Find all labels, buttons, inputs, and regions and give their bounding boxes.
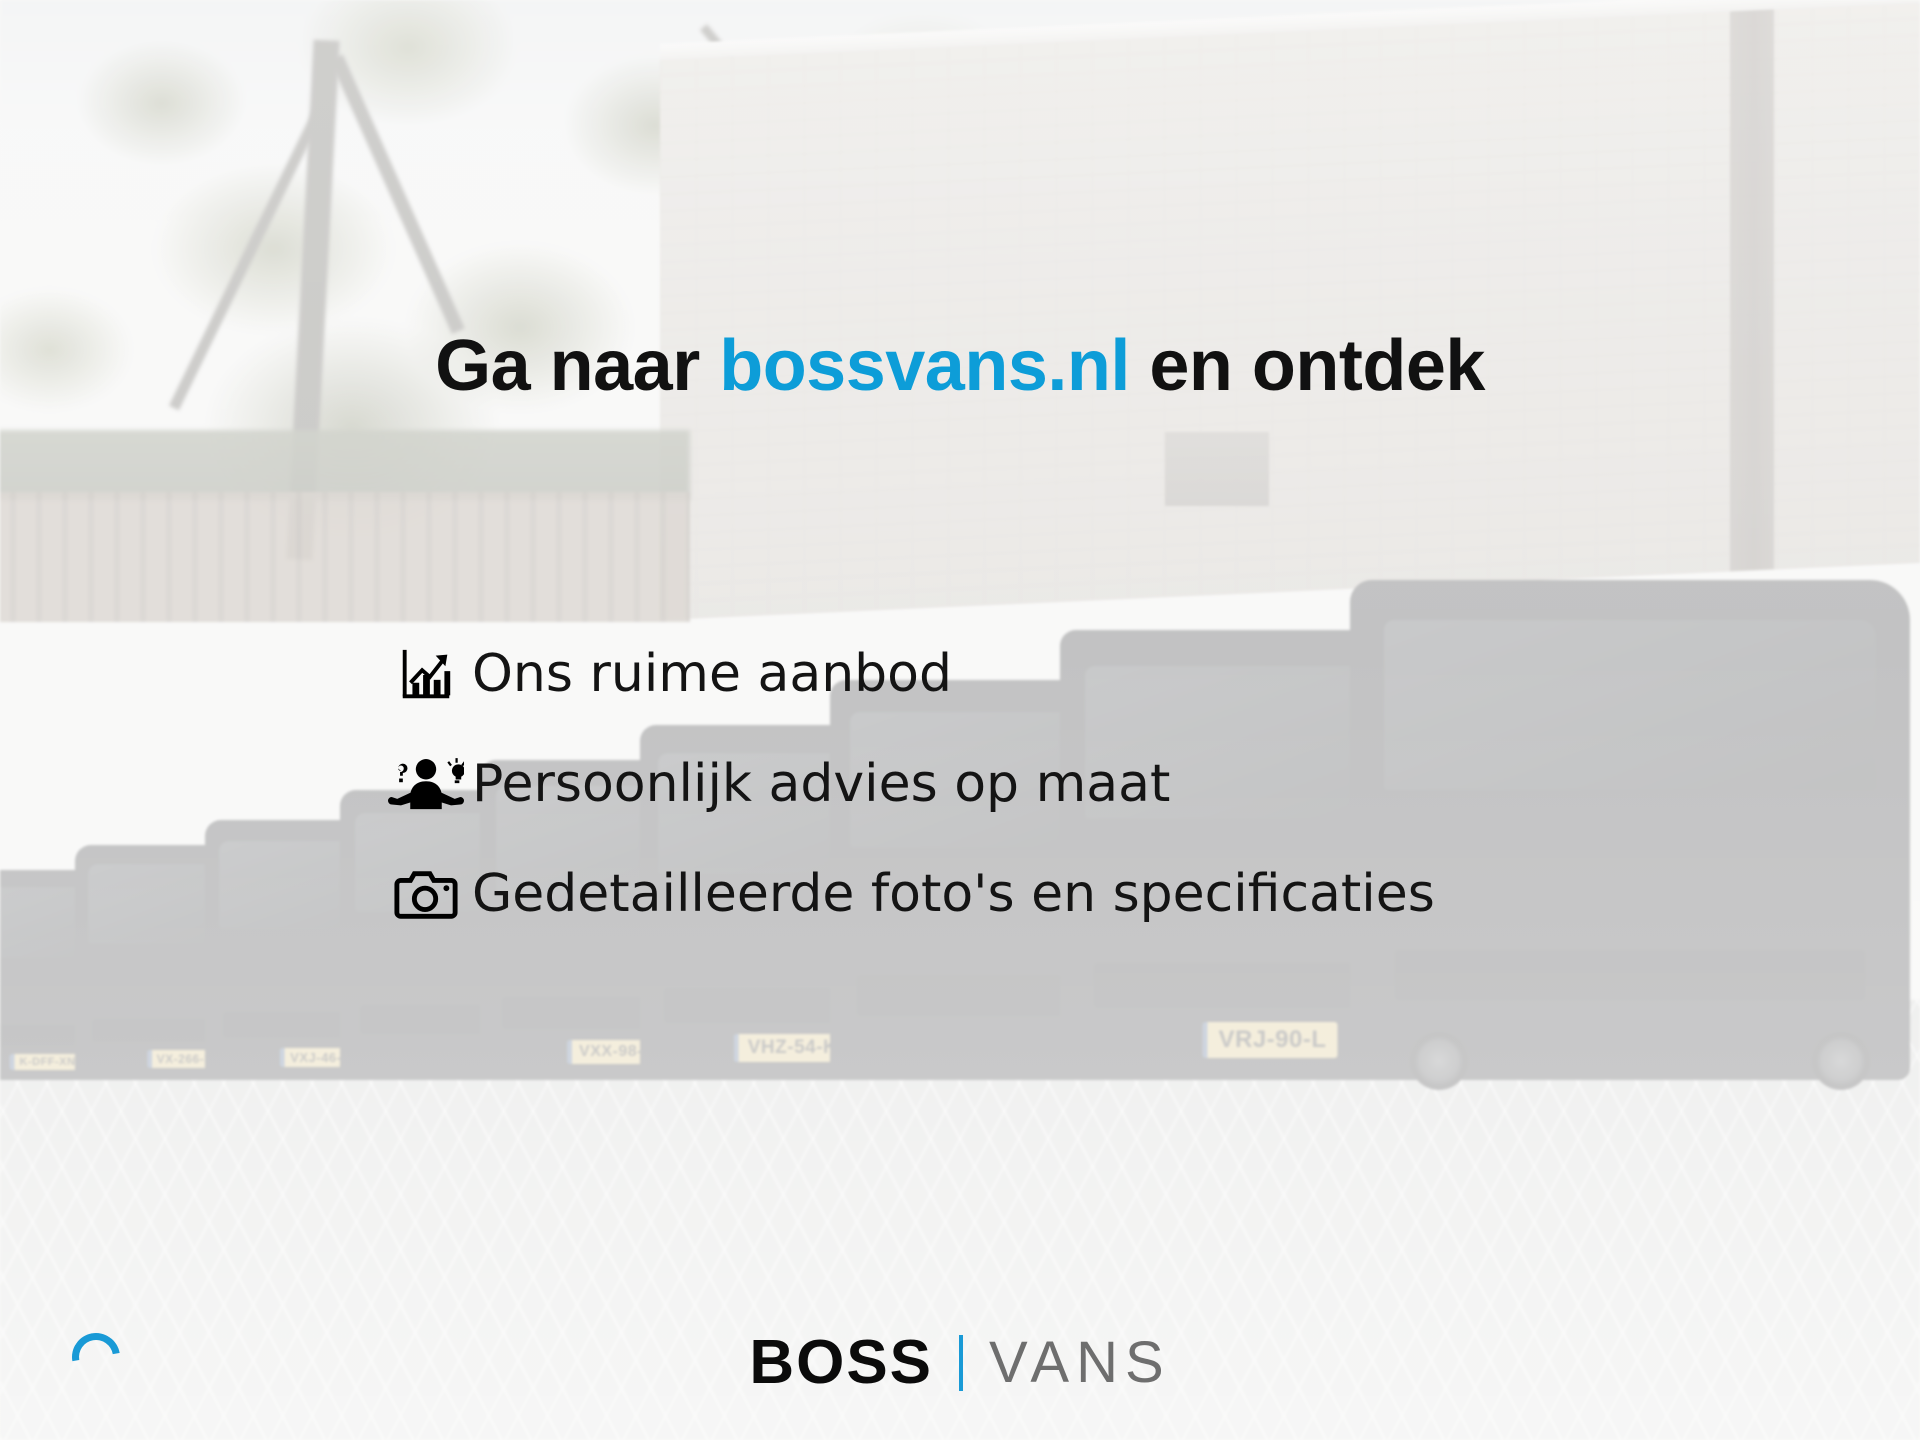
list-item-label: Gedetailleerde foto's en specificaties [472,866,1435,923]
brand-logo: BOSS VANS [0,1327,1920,1398]
camera-icon [380,867,472,923]
bar-chart-growth-icon [380,644,472,706]
person-advice-idea-icon [380,754,472,816]
headline-domain[interactable]: bossvans.nl [719,326,1130,406]
logo-vans-text: VANS [989,1329,1171,1396]
logo-boss-text: BOSS [749,1327,933,1398]
list-item: Gedetailleerde foto's en specificaties [380,840,1680,950]
logo-divider [959,1335,963,1391]
list-item-label: Persoonlijk advies op maat [472,756,1170,813]
list-item: Ons ruime aanbod [380,620,1680,730]
slide-content: Ga naar bossvans.nl en ontdek Ons [0,0,1920,1440]
headline-before: Ga naar [435,326,719,406]
page-title: Ga naar bossvans.nl en ontdek [0,330,1920,402]
logo-accent-arc [63,1324,130,1391]
feature-list: Ons ruime aanbod Per [380,620,1680,950]
promo-slide: K-DFF-XN VX-266-D VXJ-46-Z VXX-98-G [0,0,1920,1440]
list-item: Persoonlijk advies op maat [380,730,1680,840]
headline-after: en ontdek [1130,326,1485,406]
list-item-label: Ons ruime aanbod [472,646,952,703]
